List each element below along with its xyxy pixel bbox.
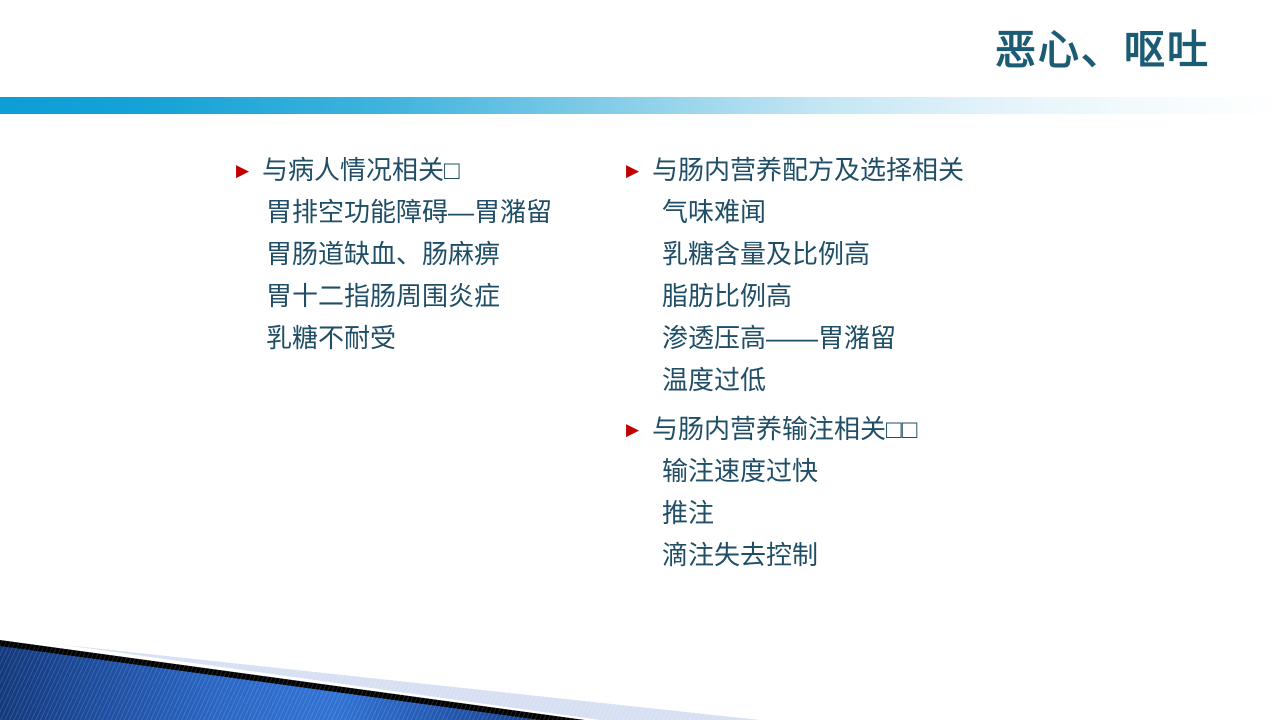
- right-group-1-item-2: 乳糖含量及比例高: [626, 233, 1096, 275]
- triangle-bullet-icon: ▶: [626, 409, 646, 450]
- blue-wedge-shape: [0, 646, 540, 720]
- right-column: ▶ 与肠内营养配方及选择相关 气味难闻 乳糖含量及比例高 脂肪比例高 渗透压高—…: [626, 150, 1096, 576]
- title-divider-bar: [0, 97, 1280, 114]
- right-group-1-item-3: 脂肪比例高: [626, 275, 1096, 317]
- bullet-group-heading: ▶ 与肠内营养输注相关□□: [626, 409, 1096, 450]
- right-group-1-item-4: 渗透压高——胃潴留: [626, 317, 1096, 359]
- bottom-decoration: [0, 610, 1280, 720]
- black-stripe-shape: [0, 640, 585, 720]
- triangle-bullet-icon: ▶: [236, 150, 256, 191]
- left-group-1-item-1: 胃排空功能障碍—胃潴留: [236, 191, 626, 233]
- right-group-2-heading: 与肠内营养输注相关□□: [652, 409, 917, 450]
- slide-canvas: 恶心、呕吐 ▶ 与病人情况相关□ 胃排空功能障碍—胃潴留 胃肠道缺血、肠麻痹 胃…: [0, 0, 1280, 720]
- decoration-shapes: [0, 610, 1280, 720]
- slide-body: ▶ 与病人情况相关□ 胃排空功能障碍—胃潴留 胃肠道缺血、肠麻痹 胃十二指肠周围…: [0, 150, 1280, 620]
- left-group-1-item-4: 乳糖不耐受: [236, 317, 626, 359]
- left-group-1-item-2: 胃肠道缺血、肠麻痹: [236, 233, 626, 275]
- light-wedge-shape: [0, 638, 760, 720]
- bullet-group-heading: ▶ 与病人情况相关□: [236, 150, 626, 191]
- left-group-1-heading: 与病人情况相关□: [262, 150, 460, 191]
- slide-title: 恶心、呕吐: [0, 26, 1210, 75]
- bullet-group-heading: ▶ 与肠内营养配方及选择相关: [626, 150, 1096, 191]
- wedge-stripe-texture: [0, 610, 1280, 720]
- right-group-1-item-1: 气味难闻: [626, 191, 1096, 233]
- right-group-1-item-5: 温度过低: [626, 359, 1096, 401]
- right-group-2-item-2: 推注: [626, 492, 1096, 534]
- right-group-1-heading: 与肠内营养配方及选择相关: [652, 150, 964, 191]
- right-group-2-item-1: 输注速度过快: [626, 450, 1096, 492]
- left-group-1-item-3: 胃十二指肠周围炎症: [236, 275, 626, 317]
- right-group-2-item-3: 滴注失去控制: [626, 534, 1096, 576]
- triangle-bullet-icon: ▶: [626, 150, 646, 191]
- white-sliver-shape: [0, 636, 600, 720]
- group-spacer: [626, 401, 1096, 409]
- left-column: ▶ 与病人情况相关□ 胃排空功能障碍—胃潴留 胃肠道缺血、肠麻痹 胃十二指肠周围…: [236, 150, 626, 359]
